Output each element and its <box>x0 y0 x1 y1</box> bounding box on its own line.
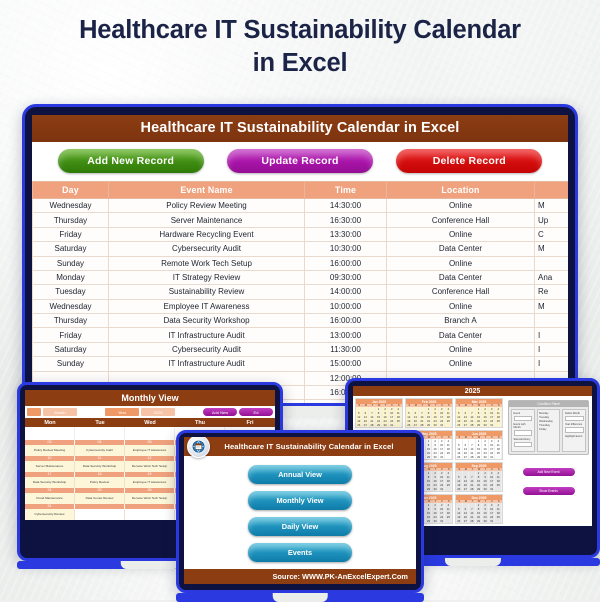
table-cell[interactable]: Sunday <box>33 357 109 371</box>
condition-panel-body: Event Event with Month Selected Entry Mo… <box>511 409 586 452</box>
mini-calendar-week: 262728293031 <box>456 423 502 427</box>
mini-calendar-day[interactable]: 31 <box>439 519 446 523</box>
table-cell[interactable]: M <box>535 199 569 213</box>
mini-calendar-week: 262728293031 <box>456 519 502 523</box>
mini-calendar-day[interactable]: 30 <box>382 423 389 427</box>
mini-calendar-day[interactable]: 30 <box>432 519 439 523</box>
mini-calendar-day[interactable]: 29 <box>476 519 483 523</box>
mini-calendar-day[interactable]: 28 <box>469 455 476 459</box>
mini-calendar-day[interactable]: 31 <box>489 423 496 427</box>
monthly-weekday-thu: Thu <box>175 418 225 427</box>
panel-radio-wednesday[interactable]: Wednesday <box>539 420 558 423</box>
mini-calendar-day[interactable]: 31 <box>489 487 496 491</box>
table-cell[interactable]: Friday <box>33 328 109 342</box>
control-spacer <box>79 408 103 416</box>
panel-check-highlight[interactable]: Highlight Event <box>565 435 584 438</box>
monthly-event-cell[interactable]: Data Center Review <box>75 493 125 504</box>
mini-calendar-week: 262728293031 <box>406 423 452 427</box>
table-cell[interactable]: 11:30:00 <box>305 342 387 356</box>
mini-calendar-day[interactable]: 26 <box>356 423 363 427</box>
panel-label-year-diff: Year difference <box>565 423 584 426</box>
monthly-weekday-header: MonTueWedThuFri <box>25 418 275 427</box>
panel-input-event-month[interactable] <box>514 430 533 436</box>
menu-laptop-device: Healthcare IT Sustainability Calendar in… <box>176 430 424 602</box>
annual-month-column: Mar 2025SMTWTFS1234567891011121314151617… <box>455 398 503 524</box>
mini-calendar-day[interactable]: 28 <box>469 487 476 491</box>
table-cell[interactable]: Data Center <box>387 270 535 284</box>
table-cell[interactable]: Tuesday <box>33 285 109 299</box>
table-row[interactable]: TuesdaySustainability Review14:00:00Conf… <box>33 285 569 299</box>
menu-header-bar: Healthcare IT Sustainability Calendar in… <box>184 437 416 456</box>
table-cell[interactable]: Re <box>535 285 569 299</box>
table-cell[interactable]: Monday <box>33 270 109 284</box>
monthly-event-cell[interactable]: Remote Work Tech Setup <box>125 461 175 472</box>
monthly-event-cell[interactable]: Employee IT Awareness <box>125 477 175 488</box>
table-cell[interactable]: Wednesday <box>33 299 109 313</box>
mini-calendar-week: 262728293031 <box>456 487 502 491</box>
add-new-record-button[interactable]: Add New Record <box>58 149 204 173</box>
table-cell[interactable]: 13:00:00 <box>305 328 387 342</box>
monthly-event-cell[interactable]: Policy Review <box>75 477 125 488</box>
mini-calendar-day[interactable]: 26 <box>456 423 463 427</box>
monthly-event-cell[interactable]: Data Security Workshop <box>75 461 125 472</box>
table-row[interactable]: SaturdayCybersecurity Audit10:30:00Data … <box>33 242 569 256</box>
table-cell[interactable]: Online <box>387 199 535 213</box>
panel-label-event: Event <box>514 412 533 415</box>
events-table-body: WednesdayPolicy Review Meeting14:30:00On… <box>33 199 569 407</box>
condition-panel-title: Condition Panel <box>509 401 588 407</box>
panel-radio-thursday[interactable]: Thursday <box>539 424 558 427</box>
table-cell[interactable]: Sustainability Review <box>109 285 305 299</box>
source-footer: Source: WWW.PK-AnExcelExpert.Com <box>184 569 416 584</box>
year-label[interactable]: Year <box>105 408 139 416</box>
mini-calendar-day[interactable]: 29 <box>476 423 483 427</box>
table-cell[interactable]: Data Security Workshop <box>109 314 305 328</box>
monthly-event-cell[interactable]: Cybersecurity Audit <box>75 445 125 456</box>
table-cell[interactable]: Ana <box>535 270 569 284</box>
table-row[interactable]: FridayHardware Recycling Event13:30:00On… <box>33 227 569 241</box>
mini-calendar[interactable]: Feb 2025SMTWTFS1234567891011121314151617… <box>405 398 453 428</box>
panel-group-settings: Select Month Year difference Highlight E… <box>562 409 586 452</box>
table-row[interactable]: SundayRemote Work Tech Setup16:00:00Onli… <box>33 256 569 270</box>
table-row[interactable]: FridayIT Infrastructure Audit13:00:00Dat… <box>33 328 569 342</box>
monthly-event-cell[interactable]: Data Security Workshop <box>25 477 75 488</box>
mini-calendar-day[interactable]: 30 <box>432 423 439 427</box>
mini-calendar-day[interactable]: 30 <box>482 487 489 491</box>
panel-group-filter: Monday Tuesday Wednesday Thursday Friday <box>537 409 561 452</box>
menu-laptop-screen: Healthcare IT Sustainability Calendar in… <box>184 437 416 584</box>
mini-calendar-day[interactable]: 26 <box>406 423 413 427</box>
mini-calendar-day[interactable] <box>445 519 452 523</box>
table-cell[interactable]: Data Center <box>387 242 535 256</box>
monthly-view-controls: Month Year 2025 Add New Ed <box>25 406 275 418</box>
mini-calendar-day[interactable] <box>495 487 502 491</box>
mini-calendar-day[interactable]: 31 <box>439 487 446 491</box>
workbook-title-bar: Healthcare IT Sustainability Calendar in… <box>32 115 568 142</box>
mini-calendar[interactable]: Sep 2025SMTWTFS1234567891011121314151617… <box>455 462 503 492</box>
table-cell[interactable]: M <box>535 242 569 256</box>
column-header-day[interactable]: Day <box>33 182 109 199</box>
mini-calendar-day[interactable] <box>445 487 452 491</box>
page-title-line-2: in Excel <box>0 47 600 80</box>
panel-input-select-day[interactable] <box>514 416 533 422</box>
table-cell[interactable]: Cybersecurity Audit <box>109 242 305 256</box>
mini-calendar-day[interactable]: 29 <box>376 423 383 427</box>
monthly-weekday-wed: Wed <box>125 418 175 427</box>
mini-calendar-day[interactable]: 26 <box>456 455 463 459</box>
year-value[interactable]: 2025 <box>141 408 175 416</box>
table-cell[interactable]: Online <box>387 227 535 241</box>
table-cell[interactable]: 16:00:00 <box>305 314 387 328</box>
monthly-weekday-fri: Fri <box>225 418 275 427</box>
table-row[interactable]: MondayIT Strategy Review09:30:00Data Cen… <box>33 270 569 284</box>
mini-calendar-week: 262728293031 <box>356 423 402 427</box>
table-cell[interactable]: C <box>535 227 569 241</box>
mini-calendar-day[interactable]: 27 <box>413 423 420 427</box>
mini-calendar[interactable]: Mar 2025SMTWTFS1234567891011121314151617… <box>455 398 503 428</box>
table-cell[interactable]: Sunday <box>33 256 109 270</box>
mini-calendar-day[interactable]: 27 <box>463 519 470 523</box>
record-action-toolbar: Add New Record Update Record Delete Reco… <box>32 142 568 181</box>
mini-calendar-day[interactable]: 29 <box>426 455 433 459</box>
mini-calendar-day[interactable]: 28 <box>419 423 426 427</box>
mini-calendar-day[interactable]: 31 <box>489 455 496 459</box>
table-row[interactable]: ThursdayServer Maintenance16:30:00Confer… <box>33 213 569 227</box>
mini-calendar-day[interactable]: 31 <box>439 423 446 427</box>
mini-calendar-day[interactable] <box>495 519 502 523</box>
mini-calendar-day[interactable]: 28 <box>469 519 476 523</box>
menu-laptop-base <box>176 593 424 602</box>
mini-calendar-day[interactable]: 27 <box>463 455 470 459</box>
annual-view-button[interactable]: Annual View <box>248 465 352 484</box>
mini-calendar-day[interactable]: 30 <box>482 519 489 523</box>
events-table-header-row: Day Event Name Time Location <box>33 182 569 199</box>
table-cell[interactable]: Conference Hall <box>387 213 535 227</box>
panel-input-selected-entry[interactable] <box>514 442 533 448</box>
table-cell[interactable]: Thursday <box>33 314 109 328</box>
table-cell[interactable]: Conference Hall <box>387 285 535 299</box>
monthly-weekday-tue: Tue <box>75 418 125 427</box>
mini-calendar-day[interactable] <box>495 455 502 459</box>
table-cell[interactable]: I <box>535 357 569 371</box>
panel-input-select-month[interactable] <box>565 416 584 422</box>
table-cell[interactable]: Online <box>387 256 535 270</box>
table-cell[interactable]: Saturday <box>33 342 109 356</box>
month-selector[interactable]: Month <box>43 408 77 416</box>
table-cell[interactable]: 16:30:00 <box>305 213 387 227</box>
monthly-edit-button[interactable]: Ed <box>239 408 273 416</box>
monthly-event-cell[interactable]: Cloud Maintenance <box>25 493 75 504</box>
monthly-weekday-mon: Mon <box>25 418 75 427</box>
mini-calendar-day[interactable]: 26 <box>456 487 463 491</box>
table-cell[interactable]: Data Center <box>387 328 535 342</box>
mini-calendar-day[interactable] <box>395 423 402 427</box>
update-record-button[interactable]: Update Record <box>227 149 373 173</box>
panel-group-event: Event Event with Month Selected Entry <box>511 409 535 452</box>
table-cell[interactable]: 16:00:00 <box>305 256 387 270</box>
table-row[interactable]: WednesdayPolicy Review Meeting14:30:00On… <box>33 199 569 213</box>
monthly-add-new-button[interactable]: Add New <box>203 408 237 416</box>
mini-calendar-day[interactable]: 30 <box>432 487 439 491</box>
page-title: Healthcare IT Sustainability Calendar in… <box>0 14 600 80</box>
table-cell[interactable]: Online <box>387 342 535 356</box>
table-cell[interactable]: Employee IT Awareness <box>109 299 305 313</box>
panel-radio-tuesday[interactable]: Tuesday <box>539 416 558 419</box>
column-header-extra[interactable] <box>535 182 569 199</box>
panel-radio-friday[interactable]: Friday <box>539 428 558 431</box>
table-cell[interactable]: Online <box>387 357 535 371</box>
mini-calendar-day[interactable]: 30 <box>482 423 489 427</box>
annual-side-panel: Condition Panel Event Event with Month S… <box>505 396 592 526</box>
table-cell[interactable]: Online <box>387 299 535 313</box>
mini-calendar[interactable]: Jun 2025SMTWTFS1234567891011121314151617… <box>455 430 503 460</box>
menu-laptop-bezel: Healthcare IT Sustainability Calendar in… <box>176 430 424 593</box>
panel-radio-monday[interactable]: Monday <box>539 412 558 415</box>
mini-calendar-day[interactable] <box>445 423 452 427</box>
calendar-globe-icon <box>187 437 210 458</box>
mini-calendar-day[interactable]: 31 <box>389 423 396 427</box>
table-cell[interactable]: Wednesday <box>33 199 109 213</box>
mini-calendar[interactable]: Dec 2025SMTWTFS1234567891011121314151617… <box>455 494 503 524</box>
monthly-event-cell[interactable] <box>75 509 125 520</box>
table-cell[interactable]: 14:00:00 <box>305 285 387 299</box>
table-cell[interactable]: Up <box>535 213 569 227</box>
mini-calendar-day[interactable]: 28 <box>369 423 376 427</box>
table-cell[interactable]: Policy Review Meeting <box>109 199 305 213</box>
daily-view-button[interactable]: Daily View <box>248 517 352 536</box>
table-cell[interactable]: M <box>535 299 569 313</box>
annual-year-title: 2025 <box>353 386 592 396</box>
monthly-event-cell[interactable]: Policy Review Meeting <box>25 445 75 456</box>
table-cell[interactable]: Thursday <box>33 213 109 227</box>
table-row[interactable]: ThursdayData Security Workshop16:00:00Br… <box>33 314 569 328</box>
table-row[interactable]: SaturdayCybersecurity Audit11:30:00Onlin… <box>33 342 569 356</box>
mini-calendar-day[interactable]: 30 <box>482 455 489 459</box>
column-header-event[interactable]: Event Name <box>109 182 305 199</box>
mini-calendar-day[interactable] <box>495 423 502 427</box>
annual-show-events-button[interactable]: Show Events <box>523 487 575 495</box>
mini-calendar-day[interactable]: 31 <box>439 455 446 459</box>
table-cell[interactable]: Cybersecurity Audit <box>109 342 305 356</box>
main-laptop-bezel: Healthcare IT Sustainability Calendar in… <box>22 104 578 406</box>
table-cell[interactable]: IT Infrastructure Audit <box>109 328 305 342</box>
table-cell[interactable]: 15:00:00 <box>305 357 387 371</box>
monthly-event-cell[interactable]: Remote Work Tech Setup <box>125 493 175 504</box>
mini-calendar-day[interactable]: 29 <box>426 519 433 523</box>
mini-calendar-day[interactable]: 29 <box>426 487 433 491</box>
mini-calendar-day[interactable]: 29 <box>476 455 483 459</box>
monthly-event-cell[interactable]: Employee IT Awareness <box>125 445 175 456</box>
table-cell[interactable]: 09:30:00 <box>305 270 387 284</box>
mini-calendar-day[interactable]: 29 <box>426 423 433 427</box>
table-cell[interactable] <box>535 256 569 270</box>
table-cell[interactable]: I <box>535 328 569 342</box>
table-cell[interactable] <box>535 314 569 328</box>
mini-calendar-day[interactable]: 27 <box>463 487 470 491</box>
monthly-event-cell[interactable]: Cybersecurity Review <box>25 509 75 520</box>
table-cell[interactable]: Remote Work Tech Setup <box>109 256 305 270</box>
table-row[interactable]: SundayIT Infrastructure Audit15:00:00Onl… <box>33 357 569 371</box>
table-cell[interactable]: 14:30:00 <box>305 199 387 213</box>
panel-label-event-month: Event with Month <box>514 423 533 429</box>
panel-label-selected-entry: Selected Entry <box>514 438 533 441</box>
table-cell[interactable]: Friday <box>33 227 109 241</box>
table-cell[interactable]: I <box>535 342 569 356</box>
mini-calendar-day[interactable]: 28 <box>469 423 476 427</box>
table-cell[interactable]: IT Strategy Review <box>109 270 305 284</box>
events-button[interactable]: Events <box>248 543 352 562</box>
annual-panel-buttons: Add New Event Show Events <box>508 460 589 498</box>
panel-label-select-month: Select Month <box>565 412 584 415</box>
delete-record-button[interactable]: Delete Record <box>396 149 542 173</box>
main-laptop-screen: Healthcare IT Sustainability Calendar in… <box>32 115 568 406</box>
table-cell[interactable]: 10:00:00 <box>305 299 387 313</box>
monthly-view-button[interactable]: Monthly View <box>248 491 352 510</box>
monthly-event-cell[interactable]: Server Maintenance <box>25 461 75 472</box>
mini-calendar-day[interactable] <box>445 455 452 459</box>
table-cell[interactable]: 10:30:00 <box>305 242 387 256</box>
mini-calendar-day[interactable]: 30 <box>432 455 439 459</box>
table-cell[interactable]: Server Maintenance <box>109 213 305 227</box>
month-prev-control[interactable] <box>27 408 41 416</box>
table-cell[interactable]: Branch A <box>387 314 535 328</box>
mini-calendar-day[interactable]: 29 <box>476 487 483 491</box>
page-title-line-1: Healthcare IT Sustainability Calendar <box>79 16 521 44</box>
table-row[interactable]: WednesdayEmployee IT Awareness10:00:00On… <box>33 299 569 313</box>
annual-add-new-event-button[interactable]: Add New Event <box>523 468 575 476</box>
menu-header-title: Healthcare IT Sustainability Calendar in… <box>224 442 393 451</box>
table-cell[interactable]: 13:30:00 <box>305 227 387 241</box>
monthly-view-title: Monthly View <box>25 390 275 406</box>
monthly-event-cell[interactable] <box>125 509 175 520</box>
mini-calendar-week: 262728293031 <box>456 455 502 459</box>
menu-buttons-container: Annual ViewMonthly ViewDaily ViewEvents <box>184 456 416 569</box>
column-header-time[interactable]: Time <box>305 182 387 199</box>
mini-calendar[interactable]: Jan 2025SMTWTFS1234567891011121314151617… <box>355 398 403 428</box>
mini-calendar-day[interactable]: 26 <box>456 519 463 523</box>
events-table: Day Event Name Time Location WednesdayPo… <box>32 181 568 406</box>
table-cell[interactable]: Saturday <box>33 242 109 256</box>
table-cell[interactable]: IT Infrastructure Audit <box>109 357 305 371</box>
panel-input-year-diff[interactable] <box>565 427 584 433</box>
main-laptop-device: Healthcare IT Sustainability Calendar in… <box>22 104 578 416</box>
table-cell[interactable]: Hardware Recycling Event <box>109 227 305 241</box>
control-spacer-2 <box>177 408 201 416</box>
mini-calendar-day[interactable]: 27 <box>363 423 370 427</box>
column-header-location[interactable]: Location <box>387 182 535 199</box>
mini-calendar-day[interactable]: 31 <box>489 519 496 523</box>
mini-calendar-day[interactable]: 27 <box>463 423 470 427</box>
condition-panel: Condition Panel Event Event with Month S… <box>508 400 589 455</box>
